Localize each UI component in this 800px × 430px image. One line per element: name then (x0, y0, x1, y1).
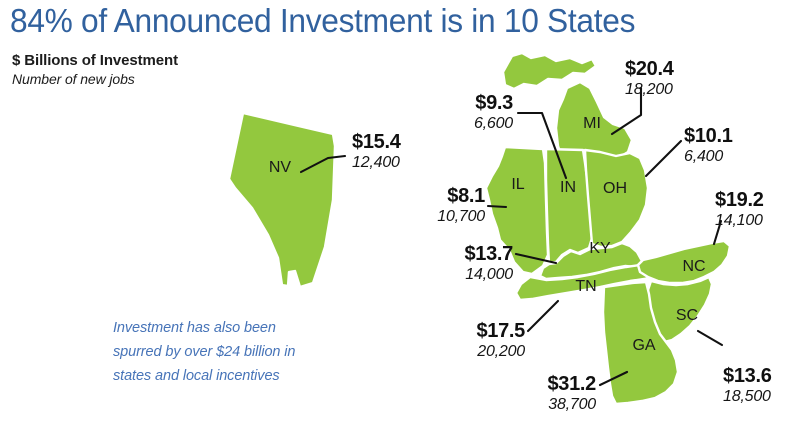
callout-tn[interactable]: $17.5 20,200 (407, 320, 525, 361)
callout-nc[interactable]: $19.2 14,100 (715, 189, 764, 230)
state-abbr-sc: SC (676, 307, 698, 324)
callout-oh-amount: $10.1 (684, 125, 733, 147)
state-abbr-ky: KY (589, 240, 611, 257)
state-abbr-mi: MI (583, 115, 601, 132)
callout-il[interactable]: $8.1 10,700 (370, 185, 485, 226)
leader-line-tn (528, 301, 558, 331)
callout-ga[interactable]: $31.2 38,700 (478, 373, 596, 414)
callout-mi-amount: $20.4 (625, 58, 674, 80)
callout-nv-jobs: 12,400 (352, 153, 401, 172)
callout-il-amount: $8.1 (370, 185, 485, 207)
state-shape-nv[interactable] (229, 113, 335, 287)
state-shape-oh[interactable] (585, 150, 648, 247)
callout-ky[interactable]: $13.7 14,000 (395, 243, 513, 284)
leader-line-il (488, 206, 506, 207)
callout-sc[interactable]: $13.6 18,500 (723, 365, 772, 406)
state-abbr-in: IN (560, 179, 576, 196)
state-abbr-il: IL (511, 176, 524, 193)
leader-line-oh (646, 141, 681, 176)
callout-ga-amount: $31.2 (478, 373, 596, 395)
state-abbr-nc: NC (682, 258, 705, 275)
callout-sc-amount: $13.6 (723, 365, 772, 387)
callout-oh[interactable]: $10.1 6,400 (684, 125, 733, 166)
state-abbr-nv: NV (269, 159, 292, 176)
callout-ky-amount: $13.7 (395, 243, 513, 265)
callout-nv[interactable]: $15.4 12,400 (352, 131, 401, 172)
state-abbr-oh: OH (603, 180, 627, 197)
callout-in-jobs: 6,600 (398, 114, 513, 133)
footnote-line-2: spurred by over $24 billion in (113, 340, 363, 364)
callout-ky-jobs: 14,000 (395, 265, 513, 284)
callout-sc-jobs: 18,500 (723, 387, 772, 406)
callout-tn-jobs: 20,200 (407, 342, 525, 361)
callout-nc-amount: $19.2 (715, 189, 764, 211)
callout-tn-amount: $17.5 (407, 320, 525, 342)
callout-mi[interactable]: $20.4 18,200 (625, 58, 674, 99)
callout-mi-jobs: 18,200 (625, 80, 674, 99)
callout-il-jobs: 10,700 (370, 207, 485, 226)
callout-oh-jobs: 6,400 (684, 147, 733, 166)
infographic-page: 84% of Announced Investment is in 10 Sta… (0, 0, 800, 430)
callout-in-amount: $9.3 (398, 92, 513, 114)
state-abbr-ga: GA (632, 337, 655, 354)
footnote-line-3: states and local incentives (113, 364, 363, 388)
footnote: Investment has also been spurred by over… (113, 316, 363, 388)
callout-nc-jobs: 14,100 (715, 211, 764, 230)
callout-ga-jobs: 38,700 (478, 395, 596, 414)
leader-line-sc (698, 331, 722, 345)
state-abbr-tn: TN (575, 278, 596, 295)
callout-nv-amount: $15.4 (352, 131, 401, 153)
footnote-line-1: Investment has also been (113, 316, 363, 340)
callout-in[interactable]: $9.3 6,600 (398, 92, 513, 133)
